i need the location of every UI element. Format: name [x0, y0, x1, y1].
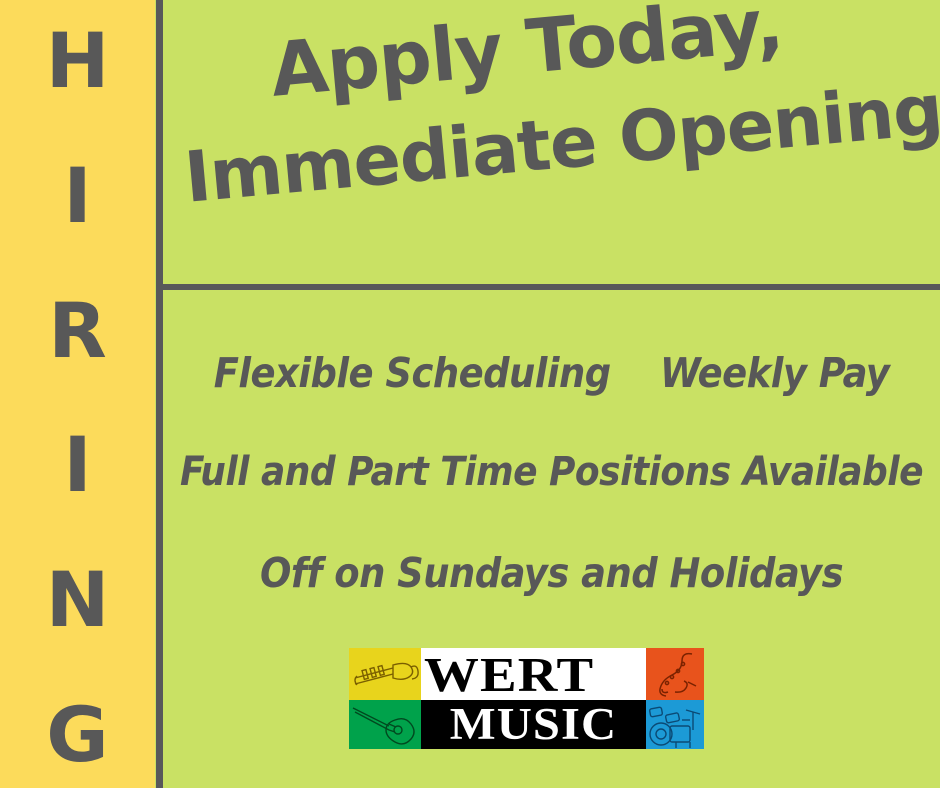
- vertical-divider: [156, 0, 163, 788]
- hiring-letter-r: R: [48, 296, 107, 366]
- logo-word-bottom-block: MUSIC: [421, 700, 646, 749]
- perks-area: Flexible Scheduling Weekly Pay Full and …: [163, 290, 940, 788]
- hiring-poster: H I R I N G Apply Today, Immediate Openi…: [0, 0, 940, 788]
- saxophone-icon: [646, 648, 704, 700]
- hiring-rail: H I R I N G: [0, 0, 155, 788]
- hiring-letter-i-2: I: [63, 430, 91, 500]
- logo-word-top-block: WERT: [421, 648, 646, 700]
- hiring-letter-h: H: [46, 26, 110, 96]
- hiring-letter-g: G: [46, 700, 108, 770]
- logo-word-music: MUSIC: [450, 702, 617, 747]
- hiring-letter-n: N: [46, 565, 110, 635]
- perk-line-2: Full and Part Time Positions Available: [163, 449, 940, 495]
- trumpet-icon: [349, 648, 421, 700]
- headline-area: Apply Today, Immediate Openings!: [163, 0, 940, 284]
- drum-kit-icon: [646, 700, 704, 749]
- content-panel: Apply Today, Immediate Openings! Flexibl…: [163, 0, 940, 788]
- perk-line-1: Flexible Scheduling Weekly Pay: [163, 349, 940, 397]
- wert-music-logo: WERT: [349, 648, 704, 749]
- perk-line-3: Off on Sundays and Holidays: [163, 549, 940, 597]
- guitar-icon: [349, 700, 421, 749]
- hiring-letter-i-1: I: [63, 161, 91, 231]
- logo-word-wert: WERT: [424, 650, 594, 699]
